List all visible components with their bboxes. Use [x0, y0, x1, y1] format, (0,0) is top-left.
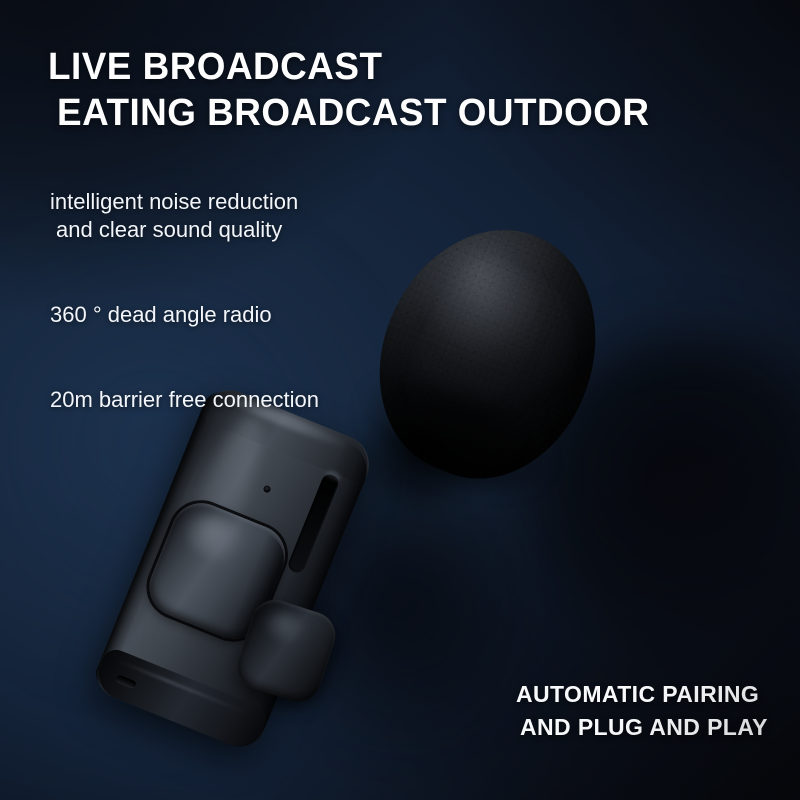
headline: LIVE BROADCAST EATING BROADCAST OUTDOOR [48, 44, 748, 137]
feature-item-noise-reduction: intelligent noise reduction and clear so… [50, 188, 450, 243]
headline-line-1: LIVE BROADCAST [48, 44, 727, 90]
headline-line-2: EATING BROADCAST OUTDOOR [57, 90, 727, 136]
feature-list: intelligent noise reduction and clear so… [50, 188, 450, 413]
tagline: AUTOMATIC PAIRING AND PLUG AND PLAY [516, 678, 786, 743]
product-banner: LIVE BROADCAST EATING BROADCAST OUTDOOR … [0, 0, 800, 800]
feature-item-connection-range: 20m barrier free connection [50, 386, 450, 414]
feature-text-1: intelligent noise reduction [50, 189, 298, 214]
feature-item-radio-angle: 360 ° dead angle radio [50, 301, 450, 329]
tagline-line-1: AUTOMATIC PAIRING [516, 678, 786, 711]
tagline-line-2: AND PLUG AND PLAY [520, 711, 786, 744]
feature-text-1-sub: and clear sound quality [56, 216, 450, 244]
